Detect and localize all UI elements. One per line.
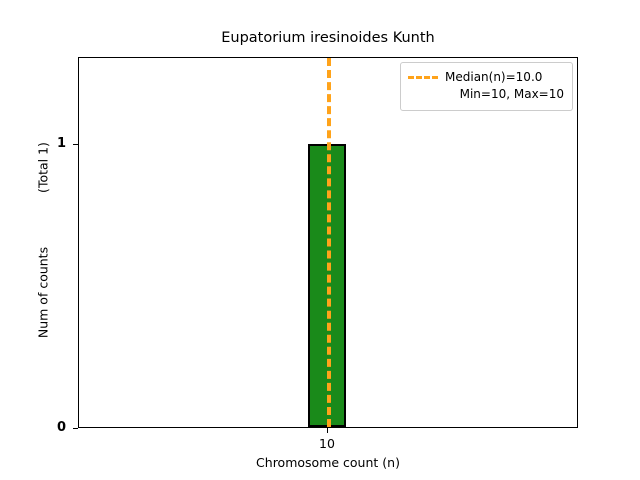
median-line-swatch-icon [408,76,438,79]
y-axis-label: Num of counts [36,218,51,368]
legend-entry-minmax: Min=10, Max=10 [445,86,564,103]
ytick-label-0: 0 [57,421,66,434]
y-axis-total-label: (Total 1) [36,103,51,233]
ytick-mark-0 [73,428,78,429]
figure-canvas: Eupatorium iresinoides Kunth 1 0 10 Chro… [0,0,640,480]
xtick-mark-10 [327,428,328,433]
ytick-label-1: 1 [57,137,66,150]
chart-title: Eupatorium iresinoides Kunth [78,30,578,46]
plot-area [78,57,578,428]
legend-text-block: Median(n)=10.0 Min=10, Max=10 [445,69,564,104]
x-axis-label: Chromosome count (n) [78,455,578,470]
legend-entry-median: Median(n)=10.0 [445,69,564,86]
xtick-label-10: 10 [297,436,357,451]
legend: Median(n)=10.0 Min=10, Max=10 [400,62,573,111]
median-line [327,58,331,427]
